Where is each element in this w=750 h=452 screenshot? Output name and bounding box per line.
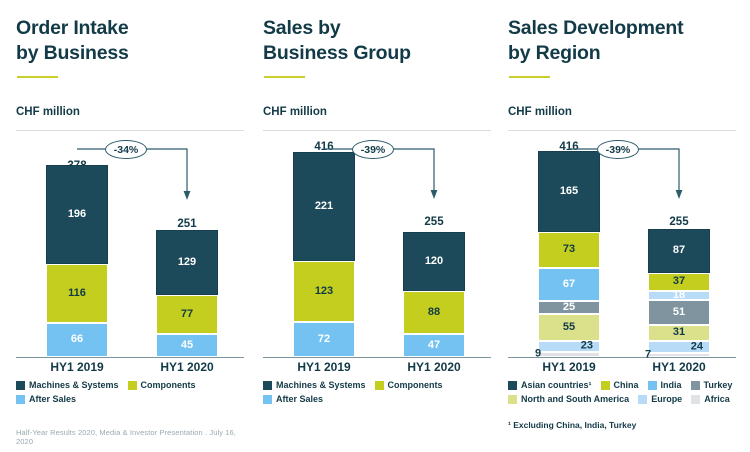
- legend-item-europe[interactable]: Europe: [638, 394, 682, 404]
- stacked-bar-2019[interactable]: 221 123 72: [293, 152, 355, 357]
- bar-segment-after-sales[interactable]: 66: [46, 323, 108, 357]
- x-axis-labels: HY1 2019 HY1 2020: [16, 360, 246, 378]
- legend-label: Turkey: [704, 380, 733, 390]
- bar-segment-machines-systems[interactable]: 221: [293, 152, 355, 261]
- bar-segment-turkey[interactable]: 25: [538, 301, 600, 314]
- x-tick-label-2020: HY1 2020: [139, 360, 235, 374]
- panel-title-line1: Order Intake: [16, 16, 129, 41]
- chart-plot-area: 416 221 123 72 255 120 88 47 -39%: [263, 136, 493, 358]
- legend-label: Components: [388, 380, 443, 390]
- bar-total-2020: 255: [648, 216, 710, 228]
- legend-label: India: [661, 380, 682, 390]
- bar-segment-india[interactable]: 67: [538, 268, 600, 301]
- legend-label: North and South America: [521, 394, 629, 404]
- panel-divider-rule: [263, 130, 491, 131]
- legend-item-north-south-america[interactable]: North and South America: [508, 394, 629, 404]
- stacked-bar-2020[interactable]: 87 37 18 51 31 24 7: [648, 229, 710, 357]
- title-underline-rule: [264, 76, 305, 78]
- x-axis-line: [508, 357, 736, 358]
- legend-label: China: [614, 380, 639, 390]
- x-tick-label-2019: HY1 2019: [276, 360, 372, 374]
- x-tick-label-2019: HY1 2019: [521, 360, 617, 374]
- legend-item-machines-systems[interactable]: Machines & Systems: [16, 380, 119, 390]
- bar-segment-europe[interactable]: 23: [538, 341, 600, 352]
- bar-segment-after-sales[interactable]: 72: [293, 322, 355, 357]
- bar-segment-asian-countries[interactable]: 87: [648, 229, 710, 273]
- legend-swatch-icon: [375, 381, 384, 390]
- legend-item-turkey[interactable]: Turkey: [691, 380, 733, 390]
- title-underline-rule: [17, 76, 58, 78]
- bar-segment-after-sales[interactable]: 47: [403, 334, 465, 357]
- page-title: Sales Development by Region: [508, 16, 683, 66]
- legend-item-machines-systems[interactable]: Machines & Systems: [263, 380, 366, 390]
- legend-label: Africa: [704, 394, 730, 404]
- bar-segment-machines-systems[interactable]: 196: [46, 165, 108, 264]
- x-axis-labels: HY1 2019 HY1 2020: [263, 360, 493, 378]
- legend-swatch-icon: [263, 395, 272, 404]
- panel-divider-rule: [508, 130, 736, 131]
- chart-legend: Asian countries¹ China India Turkey Nort…: [508, 380, 744, 404]
- legend-swatch-icon: [263, 381, 272, 390]
- bar-segment-asian-countries[interactable]: 165: [538, 151, 600, 232]
- panel-title-line2: Business Group: [263, 41, 411, 66]
- bar-total-2020: 251: [156, 218, 218, 230]
- stacked-bar-2019[interactable]: 165 73 67 25 55 23 9: [538, 151, 600, 357]
- panel-title-line1: Sales Development: [508, 16, 683, 41]
- legend-swatch-icon: [638, 395, 647, 404]
- legend-swatch-icon: [691, 395, 700, 404]
- unit-label: CHF million: [16, 106, 80, 118]
- slide: Order Intake by Business CHF million 378…: [0, 0, 750, 452]
- legend-footnote: ¹ Excluding China, India, Turkey: [508, 420, 636, 430]
- unit-label: CHF million: [508, 106, 572, 118]
- panel-title-line1: Sales by: [263, 16, 411, 41]
- stacked-bar-2019[interactable]: 196 116 66: [46, 165, 108, 357]
- legend-label: After Sales: [29, 394, 76, 404]
- legend-swatch-icon: [508, 395, 517, 404]
- legend-item-africa[interactable]: Africa: [691, 394, 730, 404]
- panel-title-line2: by Region: [508, 41, 683, 66]
- x-tick-label-2020: HY1 2020: [386, 360, 482, 374]
- bar-segment-components[interactable]: 77: [156, 295, 218, 334]
- legend-item-china[interactable]: China: [601, 380, 639, 390]
- panel-sales-by-business-group: Sales by Business Group CHF million 416 …: [255, 0, 500, 452]
- legend-item-after-sales[interactable]: After Sales: [263, 394, 323, 404]
- bar-segment-north-south-america[interactable]: 31: [648, 325, 710, 341]
- x-axis-line: [16, 357, 244, 358]
- unit-label: CHF million: [263, 106, 327, 118]
- legend-swatch-icon: [601, 381, 610, 390]
- page-title: Sales by Business Group: [263, 16, 411, 66]
- chart-plot-area: 416 165 73 67 25 55 23 9 255 87 37 18 51…: [508, 136, 738, 358]
- bar-segment-turkey[interactable]: 51: [648, 300, 710, 325]
- bar-segment-north-south-america[interactable]: 55: [538, 314, 600, 341]
- bar-segment-china[interactable]: 37: [648, 273, 710, 291]
- legend-swatch-icon: [128, 381, 137, 390]
- bar-segment-china[interactable]: 73: [538, 232, 600, 268]
- legend-label: Europe: [651, 394, 682, 404]
- bar-segment-africa[interactable]: 9: [538, 352, 600, 357]
- title-underline-rule: [509, 76, 550, 78]
- stacked-bar-2020[interactable]: 120 88 47: [403, 232, 465, 357]
- stacked-bar-2020[interactable]: 129 77 45: [156, 230, 218, 357]
- legend-item-india[interactable]: India: [648, 380, 682, 390]
- bar-segment-europe[interactable]: 24: [648, 341, 710, 353]
- bar-total-2020: 255: [403, 216, 465, 228]
- chart-legend: Machines & Systems Components After Sale…: [16, 380, 252, 404]
- page-title: Order Intake by Business: [16, 16, 129, 66]
- bar-segment-africa[interactable]: 7: [648, 353, 710, 357]
- x-tick-label-2019: HY1 2019: [29, 360, 125, 374]
- legend-swatch-icon: [648, 381, 657, 390]
- legend-swatch-icon: [16, 395, 25, 404]
- legend-label: Asian countries¹: [521, 380, 592, 390]
- panel-sales-development-by-region: Sales Development by Region CHF million …: [500, 0, 745, 452]
- panel-divider-rule: [16, 130, 244, 131]
- legend-item-asian-countries[interactable]: Asian countries¹: [508, 380, 592, 390]
- legend-swatch-icon: [16, 381, 25, 390]
- panel-order-intake-by-business: Order Intake by Business CHF million 378…: [8, 0, 253, 452]
- panel-title-line2: by Business: [16, 41, 129, 66]
- delta-badge: -34%: [105, 140, 147, 159]
- x-axis-labels: HY1 2019 HY1 2020: [508, 360, 738, 378]
- bar-segment-india[interactable]: 18: [648, 291, 710, 300]
- bar-segment-machines-systems[interactable]: 120: [403, 232, 465, 291]
- x-tick-label-2020: HY1 2020: [631, 360, 727, 374]
- legend-label: Machines & Systems: [29, 380, 119, 390]
- x-axis-line: [263, 357, 491, 358]
- legend-label: After Sales: [276, 394, 323, 404]
- slide-footer: Half-Year Results 2020, Media & Investor…: [16, 428, 253, 446]
- legend-label: Components: [141, 380, 196, 390]
- legend-swatch-icon: [691, 381, 700, 390]
- bar-segment-after-sales[interactable]: 45: [156, 334, 218, 357]
- delta-badge: -39%: [597, 140, 639, 159]
- legend-item-components[interactable]: Components: [128, 380, 196, 390]
- bar-segment-components[interactable]: 116: [46, 264, 108, 323]
- legend-item-components[interactable]: Components: [375, 380, 443, 390]
- legend-swatch-icon: [508, 381, 517, 390]
- bar-segment-components[interactable]: 123: [293, 261, 355, 322]
- legend-item-after-sales[interactable]: After Sales: [16, 394, 76, 404]
- legend-label: Machines & Systems: [276, 380, 366, 390]
- chart-plot-area: 378 196 116 66 251 129 77 45 -34%: [16, 136, 246, 358]
- bar-segment-components[interactable]: 88: [403, 291, 465, 334]
- delta-badge: -39%: [352, 140, 394, 159]
- bar-segment-machines-systems[interactable]: 129: [156, 230, 218, 295]
- chart-legend: Machines & Systems Components After Sale…: [263, 380, 499, 404]
